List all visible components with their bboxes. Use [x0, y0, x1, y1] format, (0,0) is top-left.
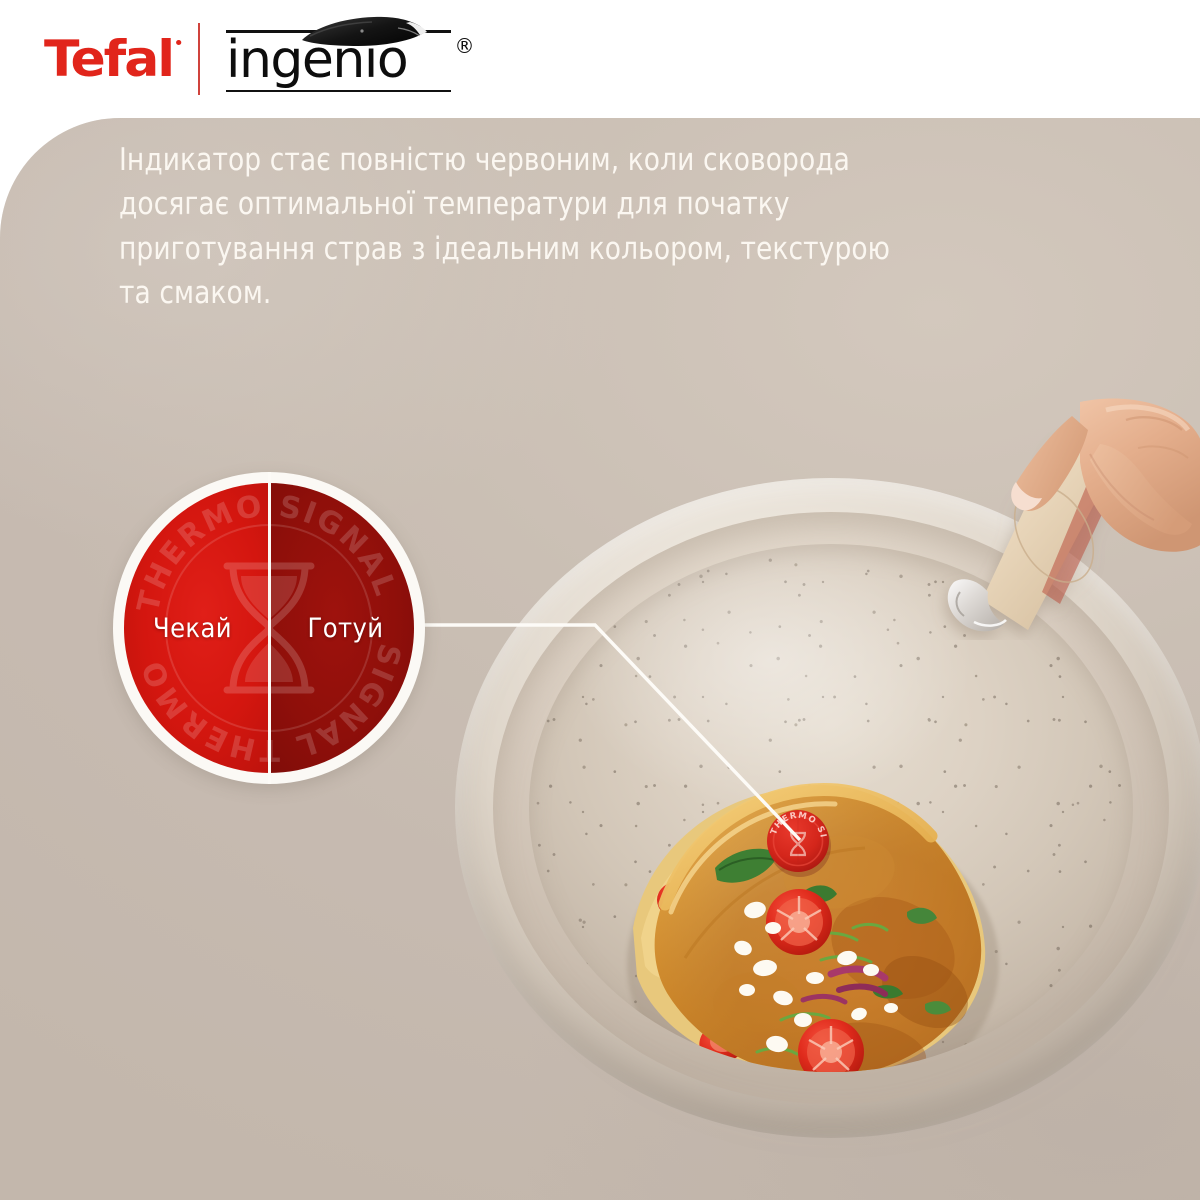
tefal-logo: Tefal — [44, 34, 173, 84]
promo-image-root: THERMO SIGNAL THERMO SIGNAL — [0, 0, 1200, 1200]
ingenio-wordmark: ingenio ® — [226, 35, 451, 89]
omelette-dish — [607, 752, 1011, 1072]
pan-thermo-signal-indicator: THERMO SIGNAL — [763, 806, 835, 880]
brand-header: Tefal ingenio ® — [0, 0, 1200, 118]
callout-half-wait — [124, 483, 269, 773]
body-paragraph: Індикатор стає повністю червоним, коли с… — [119, 138, 974, 317]
ingenio-text: ingenio — [226, 30, 407, 90]
body-line: Індикатор стає повністю червоним, коли с… — [119, 138, 974, 183]
body-line: приготування страв з ідеальним кольором,… — [119, 227, 974, 272]
callout-divider — [268, 472, 271, 784]
thermo-signal-callout: THERMO SIGNAL SIGNAL THERMO Чекай Готуй — [113, 472, 425, 784]
logo-divider — [198, 23, 200, 95]
body-line: та смаком. — [119, 271, 974, 316]
registered-mark: ® — [455, 37, 474, 57]
ingenio-logo: ingenio ® — [226, 26, 451, 92]
logo-lockup: Tefal ingenio ® — [44, 22, 451, 96]
ingenio-rule-bottom — [226, 90, 451, 93]
callout-half-ready — [269, 483, 414, 773]
hand-with-detachable-handle — [930, 396, 1200, 640]
body-line: досягає оптимальної температури для поча… — [119, 182, 974, 227]
